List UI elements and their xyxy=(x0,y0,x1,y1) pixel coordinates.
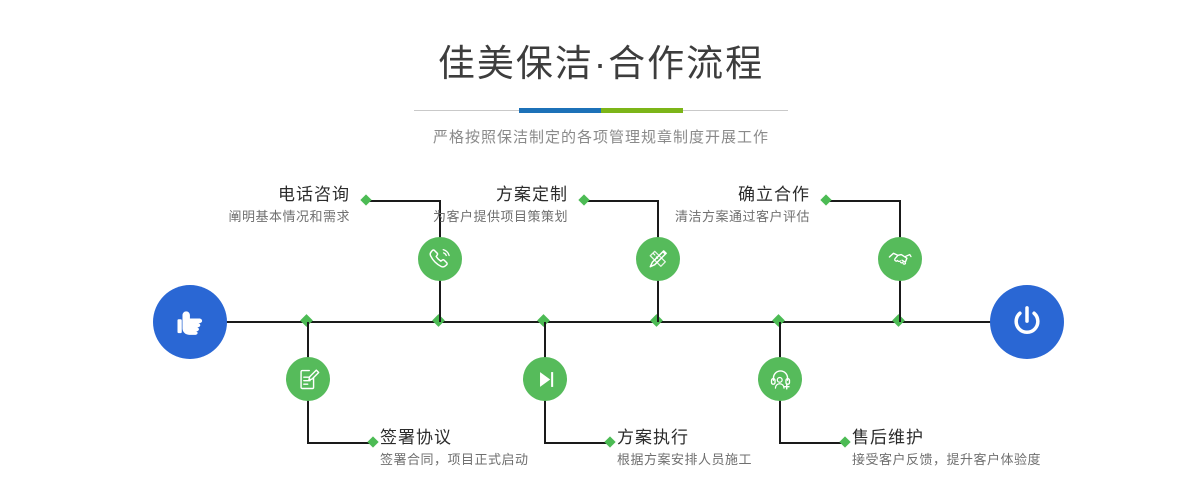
branch-tip-dot xyxy=(578,194,589,205)
timeline: 电话咨询 阐明基本情况和需求 xyxy=(0,0,1202,502)
branch-elbow xyxy=(366,200,441,202)
pointing-hand-icon xyxy=(171,303,209,341)
step-icon-handshake[interactable] xyxy=(878,237,922,281)
step-title: 电话咨询 xyxy=(228,185,350,205)
branch-tip-dot xyxy=(839,436,850,447)
step-title: 方案执行 xyxy=(617,428,752,448)
flow-end-marker xyxy=(990,285,1064,359)
power-button-icon xyxy=(1007,302,1047,342)
document-edit-icon xyxy=(296,367,321,392)
step-caption-2: 签署协议 签署合同，项目正式启动 xyxy=(380,428,529,469)
branch-elbow xyxy=(779,442,845,444)
branch-elbow xyxy=(826,200,901,202)
branch-tip-dot xyxy=(360,194,371,205)
step-desc: 清洁方案通过客户评估 xyxy=(675,208,810,226)
step-caption-5: 确立合作 清洁方案通过客户评估 xyxy=(675,185,810,226)
step-desc: 为客户提供项目策策划 xyxy=(433,208,568,226)
branch-tip-dot xyxy=(820,194,831,205)
timeline-axis xyxy=(225,321,995,323)
branch-elbow xyxy=(544,442,610,444)
branch-elbow xyxy=(307,442,373,444)
flow-start-marker xyxy=(153,285,227,359)
step-title: 售后维护 xyxy=(852,428,1041,448)
branch-tip-dot xyxy=(367,436,378,447)
step-caption-4: 方案执行 根据方案安排人员施工 xyxy=(617,428,752,469)
phone-call-icon xyxy=(427,246,453,272)
branch-elbow xyxy=(584,200,659,202)
pencil-ruler-icon xyxy=(645,246,671,272)
branch-tip-dot xyxy=(604,436,615,447)
step-caption-6: 售后维护 接受客户反馈，提升客户体验度 xyxy=(852,428,1041,469)
step-caption-1: 电话咨询 阐明基本情况和需求 xyxy=(228,185,350,226)
process-flow-infographic: 佳美保洁·合作流程 严格按照保洁制定的各项管理规章制度开展工作 xyxy=(0,0,1202,502)
step-title: 签署协议 xyxy=(380,428,529,448)
step-icon-customer-service[interactable] xyxy=(758,357,802,401)
step-icon-document-edit[interactable] xyxy=(286,357,330,401)
customer-service-add-icon xyxy=(768,367,793,392)
step-title: 确立合作 xyxy=(675,185,810,205)
step-icon-play-execute[interactable] xyxy=(523,357,567,401)
step-desc: 阐明基本情况和需求 xyxy=(228,208,350,226)
step-desc: 接受客户反馈，提升客户体验度 xyxy=(852,451,1041,469)
step-icon-phone-call[interactable] xyxy=(418,237,462,281)
step-icon-pencil-ruler[interactable] xyxy=(636,237,680,281)
step-desc: 签署合同，项目正式启动 xyxy=(380,451,529,469)
play-execute-icon xyxy=(533,367,558,392)
step-caption-3: 方案定制 为客户提供项目策策划 xyxy=(433,185,568,226)
handshake-icon xyxy=(887,246,913,272)
step-title: 方案定制 xyxy=(433,185,568,205)
step-desc: 根据方案安排人员施工 xyxy=(617,451,752,469)
